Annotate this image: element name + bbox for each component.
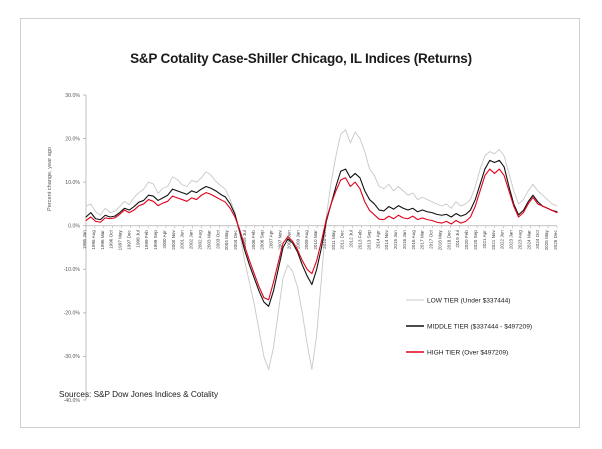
x-axis-tick-label: 2021 Nov — [491, 230, 496, 250]
legend-label: HIGH TIER (Over $497209) — [427, 349, 508, 356]
x-axis-tick-label: 2010 Mar — [313, 230, 318, 250]
y-axis-tick-label: 20.0% — [65, 136, 80, 142]
legend-label: LOW TIER (Under $337444) — [427, 297, 510, 304]
x-axis-tick-label: 2003 Oct — [215, 230, 220, 249]
x-axis-tick-label: 2020 Sep — [473, 230, 478, 250]
x-axis-tick-label: 2025 May — [544, 230, 549, 251]
x-axis-tick-label: 2004 Dec — [233, 230, 238, 250]
x-axis-tick-label: 2013 Feb — [357, 230, 362, 250]
x-axis-tick-label: 1995 Aug — [91, 230, 96, 250]
x-axis-tick-label: 1996 Oct — [109, 230, 114, 249]
x-axis-tick-label: 2016 Jan — [402, 230, 407, 249]
x-axis-tick-label: 2021 Apr — [482, 230, 487, 249]
x-axis-tick-label: 2001 Jun — [180, 230, 185, 249]
x-axis-tick-label: 2024 Mar — [526, 230, 531, 250]
x-axis-tick-label: 2006 Feb — [251, 230, 256, 250]
x-axis-tick-label: 1996 Mar — [100, 230, 105, 250]
y-axis-tick-label: -30.0% — [64, 354, 81, 360]
x-axis-tick-label: 2022 Jun — [500, 230, 505, 249]
x-axis-tick-label: 2003 Mar — [206, 230, 211, 250]
chart-card: S&P Cotality Case-Shiller Chicago, IL In… — [20, 18, 580, 428]
y-axis-tick-label: -20.0% — [64, 311, 81, 317]
x-axis-tick-label: 2023 Jan — [509, 230, 514, 249]
y-axis-tick-label: 0.0% — [68, 224, 80, 230]
x-axis-tick-label: 1999 Sep — [153, 230, 158, 250]
source-note: Sources: S&P Dow Jones Indices & Cotalit… — [59, 390, 218, 399]
x-axis-tick-label: 1995 Jan — [82, 230, 87, 249]
x-axis-tick-label: 2004 May — [224, 230, 229, 251]
chart-plot-area: 30.0%20.0%10.0%0.0%-10.0%-20.0%-30.0%-40… — [21, 19, 581, 429]
x-axis-tick-label: 2018 May — [437, 230, 442, 251]
y-axis-tick-label: -10.0% — [64, 267, 81, 273]
x-axis-tick-label: 2017 Oct — [429, 230, 434, 249]
line-chart-svg: 30.0%20.0%10.0%0.0%-10.0%-20.0%-30.0%-40… — [21, 19, 581, 429]
x-axis-tick-label: 2013 Sep — [366, 230, 371, 250]
x-axis-tick-label: 2002 Jan — [189, 230, 194, 249]
x-axis-tick-label: 2000 Nov — [171, 230, 176, 250]
y-axis-tick-label: 30.0% — [65, 93, 80, 99]
x-axis-tick-label: 2014 Apr — [375, 230, 380, 249]
x-axis-tick-label: 2012 Jul — [349, 230, 354, 247]
chart-legend: LOW TIER (Under $337444)MIDDLE TIER ($33… — [406, 297, 532, 356]
x-axis-tick-label: 2025 Dec — [553, 230, 558, 250]
x-axis-tick-label: 2016 Aug — [411, 230, 416, 250]
x-axis-tick-label: 2018 Dec — [446, 230, 451, 250]
x-axis-tick-label: 1997 Dec — [126, 230, 131, 250]
x-axis-tick-label: 1998 Jul — [135, 230, 140, 247]
x-axis-tick-label: 2019 Jul — [455, 230, 460, 247]
x-axis-tick-label: 2024 Oct — [535, 230, 540, 249]
x-axis-tick-label: 1999 Feb — [144, 230, 149, 250]
x-axis-tick-label: 2011 Dec — [340, 230, 345, 250]
x-axis-tick-label: 2014 Nov — [384, 230, 389, 250]
x-axis-tick-label: 2002 Aug — [198, 230, 203, 250]
x-axis-tick-label: 2009 Aug — [304, 230, 309, 250]
x-axis-tick-label: 2015 Jun — [393, 230, 398, 249]
x-axis-tick-label: 2006 Sep — [260, 230, 265, 250]
x-axis-tick-label: 2007 Apr — [269, 230, 274, 249]
x-axis-tick-label: 2000 Apr — [162, 230, 167, 249]
x-axis-tick-label: 2017 Mar — [420, 230, 425, 250]
x-axis-tick-label: 1997 May — [118, 230, 123, 251]
x-axis-tick-label: 2023 Aug — [517, 230, 522, 250]
y-axis-title: Percent change, year ago — [47, 147, 53, 211]
x-axis-tick-label: 2020 Feb — [464, 230, 469, 250]
legend-label: MIDDLE TIER ($337444 - $497209) — [427, 323, 532, 330]
x-axis-tick-label: 2011 May — [331, 230, 336, 251]
y-axis-tick-label: 10.0% — [65, 180, 80, 186]
